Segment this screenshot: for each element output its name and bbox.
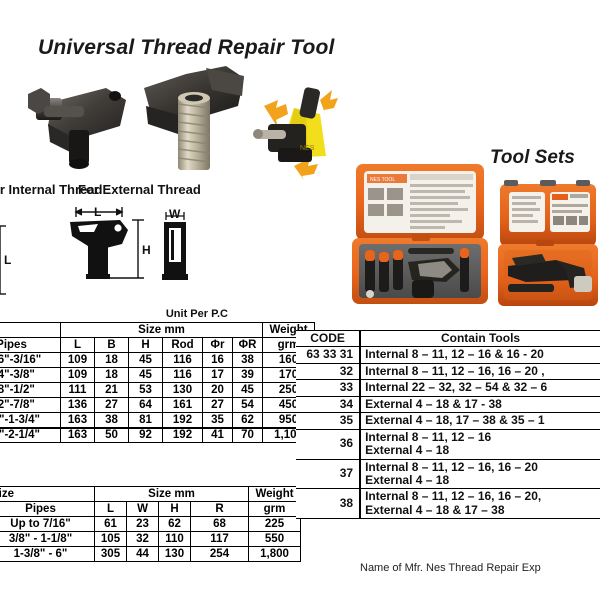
cell-R: 68 [191,517,249,532]
cell-weight: 1,800 [249,547,301,562]
cell-H: 62 [159,517,191,532]
svg-text:H: H [142,243,151,257]
cell-pipes: 1-3/8" - 6" [0,547,95,562]
header-contain-tools: Contain Tools [360,331,600,347]
cell-L: 163 [61,428,95,443]
external-spec-table: Size Size mm Weight Pipes L W H R grm Up… [0,486,301,562]
table-row: 33 Internal 22 – 32, 32 – 54 & 32 – 6 [296,380,600,396]
header-size-group: Size [0,323,61,338]
cell-L: 61 [95,517,127,532]
cell-contain-tools: External 4 – 18, 17 – 38 & 35 – 1 [360,413,600,429]
product-photo-tool-in-action: NES [248,62,340,180]
header-col-H: H [159,502,191,517]
cell-L: 136 [61,398,95,413]
cell-phi-r: 17 [203,368,233,383]
header-col-H: H [129,338,163,353]
manufacturer-note: Name of Mfr. Nes Thread Repair Exp [360,562,541,574]
table-row: 38 Internal 8 – 11, 12 – 16, 16 – 20, Ex… [296,489,600,519]
product-photo-tool-case-open-small [496,176,600,312]
header-size-mm: Size mm [95,487,249,502]
svg-text:W: W [169,207,181,221]
cell-code: 36 [296,429,360,459]
product-photo-internal-thread-tool [14,68,144,178]
cell-code: 38 [296,489,360,519]
cell-contain-tools-line1: Internal 8 – 11, 12 – 16, 16 – 20, [365,490,596,503]
tool-sets-title: Tool Sets [490,147,575,169]
header-code: CODE [296,331,360,347]
cell-phi-r: 41 [203,428,233,443]
label-for-external-thread: For External Thread [78,182,201,197]
diagram-external-thread-dimensions: L H W [62,198,222,306]
cell-code: 33 [296,380,360,396]
cell-pipes: 7/8"-1-3/4" [0,413,61,428]
cell-H: 130 [159,547,191,562]
svg-text:NES: NES [300,145,315,152]
header-col-phi-R: ΦR [233,338,263,353]
cell-pipes: 7/8"-2-1/4" [0,428,61,443]
cell-H: 45 [129,368,163,383]
cell-B: 38 [95,413,129,428]
cell-L: 163 [61,413,95,428]
cell-contain-tools: Internal 8 – 11, 12 – 16 External 4 – 18 [360,429,600,459]
cell-phi-R: 38 [233,353,263,368]
cell-contain-tools: Internal 8 – 11, 12 – 16 & 16 - 20 [360,347,600,363]
cell-L: 111 [61,383,95,398]
header-size-mm: Size mm [61,323,263,338]
internal-spec-table: Size Size mm Weight Pipes L B H Rod Φr Φ… [0,322,315,443]
table-row: 7/8"-2-1/4" 163 50 92 192 41 70 1,100 [0,428,315,443]
cell-contain-tools-line1: Internal 8 – 11, 12 – 16 [365,431,596,444]
header-col-rod: Rod [163,338,203,353]
cell-phi-r: 20 [203,383,233,398]
product-photo-tool-case-open-large: NES TOOL [348,158,494,308]
cell-weight: 225 [249,517,301,532]
cell-W: 44 [127,547,159,562]
cell-pipes: Up to 7/16" [0,517,95,532]
cell-rod: 116 [163,368,203,383]
table-row: 1/4"-3/8" 109 18 45 116 17 39 170 [0,368,315,383]
table-row: 7/8"-1-3/4" 163 38 81 192 35 62 950 [0,413,315,428]
cell-pipes: 3/8" - 1-1/8" [0,532,95,547]
header-weight: Weight [249,487,301,502]
table-subheader-row: Pipes L B H Rod Φr ΦR grm [0,338,315,353]
header-col-W: W [127,502,159,517]
cell-L: 109 [61,353,95,368]
cell-phi-r: 16 [203,353,233,368]
tool-sets-table: CODE Contain Tools 63 33 31 Internal 8 –… [296,330,600,519]
table-row: 63 33 31 Internal 8 – 11, 12 – 16 & 16 -… [296,347,600,363]
cell-H: 110 [159,532,191,547]
cell-B: 18 [95,353,129,368]
unit-per-pc-label: Unit Per P.C [166,308,228,320]
cell-rod: 130 [163,383,203,398]
header-pipes: Pipes [0,338,61,353]
cell-contain-tools-line2: External 4 – 18 [365,474,596,487]
table-header-row: Size Size mm Weight [0,487,301,502]
cell-L: 305 [95,547,127,562]
cell-pipes: 1/16"-3/16" [0,353,61,368]
table-row: 1/16"-3/16" 109 18 45 116 16 38 160 [0,353,315,368]
table-row: 3/8"-1/2" 111 21 53 130 20 45 250 [0,383,315,398]
cell-H: 53 [129,383,163,398]
cell-contain-tools: External 4 – 18 & 17 - 38 [360,396,600,412]
cell-rod: 161 [163,398,203,413]
product-photo-threaded-insert-tool [140,62,250,178]
table-subheader-row: Pipes L W H R grm [0,502,301,517]
cell-B: 21 [95,383,129,398]
header-col-L: L [95,502,127,517]
cell-R: 117 [191,532,249,547]
cell-contain-tools: Internal 8 – 11, 12 – 16, 16 – 20 , [360,363,600,379]
table-row: 3/8" - 1-1/8" 105 32 110 117 550 [0,532,301,547]
cell-phi-R: 62 [233,413,263,428]
cell-L: 105 [95,532,127,547]
cell-weight: 550 [249,532,301,547]
cell-H: 64 [129,398,163,413]
cell-code: 63 33 31 [296,347,360,363]
cell-code: 37 [296,459,360,489]
table-row: 1/2"-7/8" 136 27 64 161 27 54 450 [0,398,315,413]
svg-text:L: L [94,205,101,219]
cell-rod: 116 [163,353,203,368]
header-col-phi-r: Φr [203,338,233,353]
cell-R: 254 [191,547,249,562]
table-row: 37 Internal 8 – 11, 12 – 16, 16 – 20 Ext… [296,459,600,489]
cell-contain-tools: Internal 8 – 11, 12 – 16, 16 – 20, Exter… [360,489,600,519]
table-row: 36 Internal 8 – 11, 12 – 16 External 4 –… [296,429,600,459]
table-row: 34 External 4 – 18 & 17 - 38 [296,396,600,412]
header-pipes: Pipes [0,502,95,517]
cell-code: 32 [296,363,360,379]
page-title: Universal Thread Repair Tool [38,36,335,60]
cell-B: 50 [95,428,129,443]
cell-W: 23 [127,517,159,532]
cell-H: 81 [129,413,163,428]
cell-phi-r: 27 [203,398,233,413]
header-col-B: B [95,338,129,353]
cell-phi-R: 45 [233,383,263,398]
header-weight-unit: grm [249,502,301,517]
table-row: 35 External 4 – 18, 17 – 38 & 35 – 1 [296,413,600,429]
cell-rod: 192 [163,428,203,443]
cell-contain-tools-line1: Internal 8 – 11, 12 – 16, 16 – 20 [365,461,596,474]
cell-phi-R: 39 [233,368,263,383]
cell-pipes: 1/2"-7/8" [0,398,61,413]
cell-phi-R: 54 [233,398,263,413]
svg-text:NES TOOL: NES TOOL [370,177,395,183]
cell-contain-tools-line2: External 4 – 18 [365,444,596,457]
cell-contain-tools: Internal 22 – 32, 32 – 54 & 32 – 6 [360,380,600,396]
cell-H: 92 [129,428,163,443]
cell-B: 27 [95,398,129,413]
table-header-row: CODE Contain Tools [296,331,600,347]
cell-L: 109 [61,368,95,383]
diagram-letter-L: L [4,253,11,267]
diagram-internal-thread-dimensions: L [0,198,36,306]
header-col-R: R [191,502,249,517]
cell-code: 35 [296,413,360,429]
cell-B: 18 [95,368,129,383]
cell-pipes: 1/4"-3/8" [0,368,61,383]
table-row: 1-3/8" - 6" 305 44 130 254 1,800 [0,547,301,562]
cell-rod: 192 [163,413,203,428]
cell-H: 45 [129,353,163,368]
table-row: Up to 7/16" 61 23 62 68 225 [0,517,301,532]
header-size-group: Size [0,487,95,502]
table-header-row: Size Size mm Weight [0,323,315,338]
cell-phi-r: 35 [203,413,233,428]
cell-W: 32 [127,532,159,547]
table-row: 32 Internal 8 – 11, 12 – 16, 16 – 20 , [296,363,600,379]
header-col-L: L [61,338,95,353]
cell-pipes: 3/8"-1/2" [0,383,61,398]
cell-code: 34 [296,396,360,412]
cell-contain-tools-line2: External 4 – 18 & 17 – 38 [365,504,596,517]
cell-phi-R: 70 [233,428,263,443]
cell-contain-tools: Internal 8 – 11, 12 – 16, 16 – 20 Extern… [360,459,600,489]
